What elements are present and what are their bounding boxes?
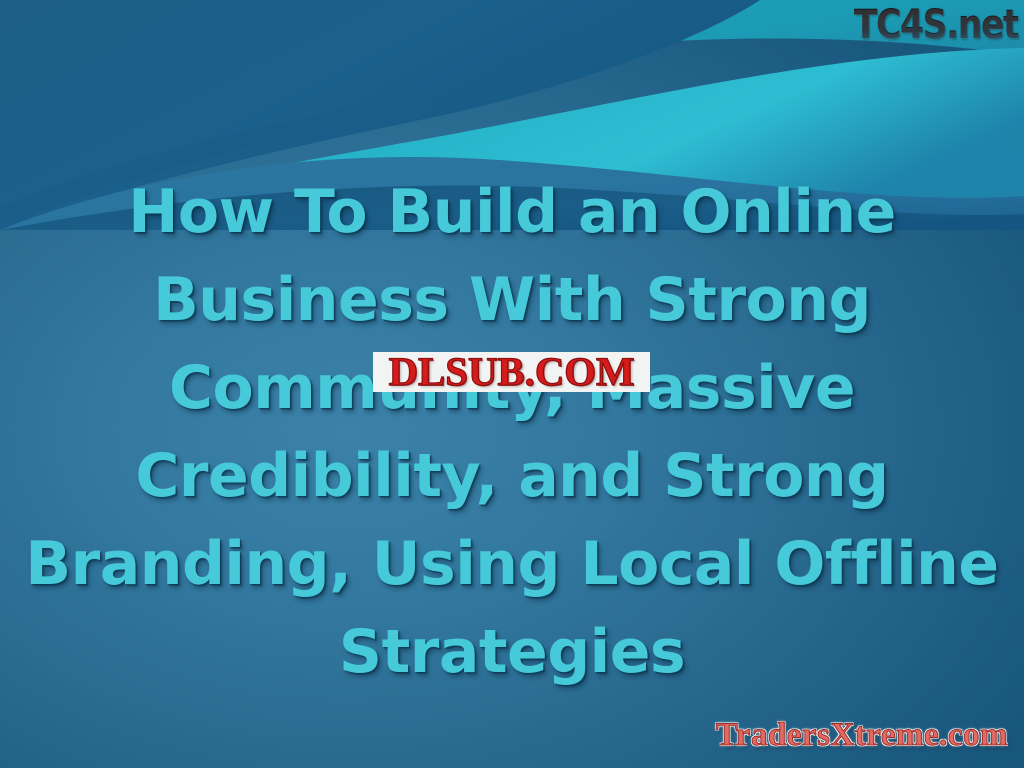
title-line-1: How To Build an Online [24, 168, 1000, 256]
watermark-tradersxtreme: TradersXtreme.com [716, 716, 1008, 754]
watermark-dlsub: DLSUB.COM [373, 352, 650, 392]
title-line-5: Branding, Using Local Offline [24, 520, 1000, 608]
presentation-slide: How To Build an Online Business With Str… [0, 0, 1024, 768]
slide-title: How To Build an Online Business With Str… [0, 168, 1024, 696]
title-line-2: Business With Strong [24, 256, 1000, 344]
watermark-dlsub-label: DLSUB.COM [389, 352, 635, 392]
watermark-tc4s: TC4S.net [854, 2, 1018, 48]
title-line-4: Credibility, and Strong [24, 432, 1000, 520]
title-line-6: Strategies [24, 608, 1000, 696]
